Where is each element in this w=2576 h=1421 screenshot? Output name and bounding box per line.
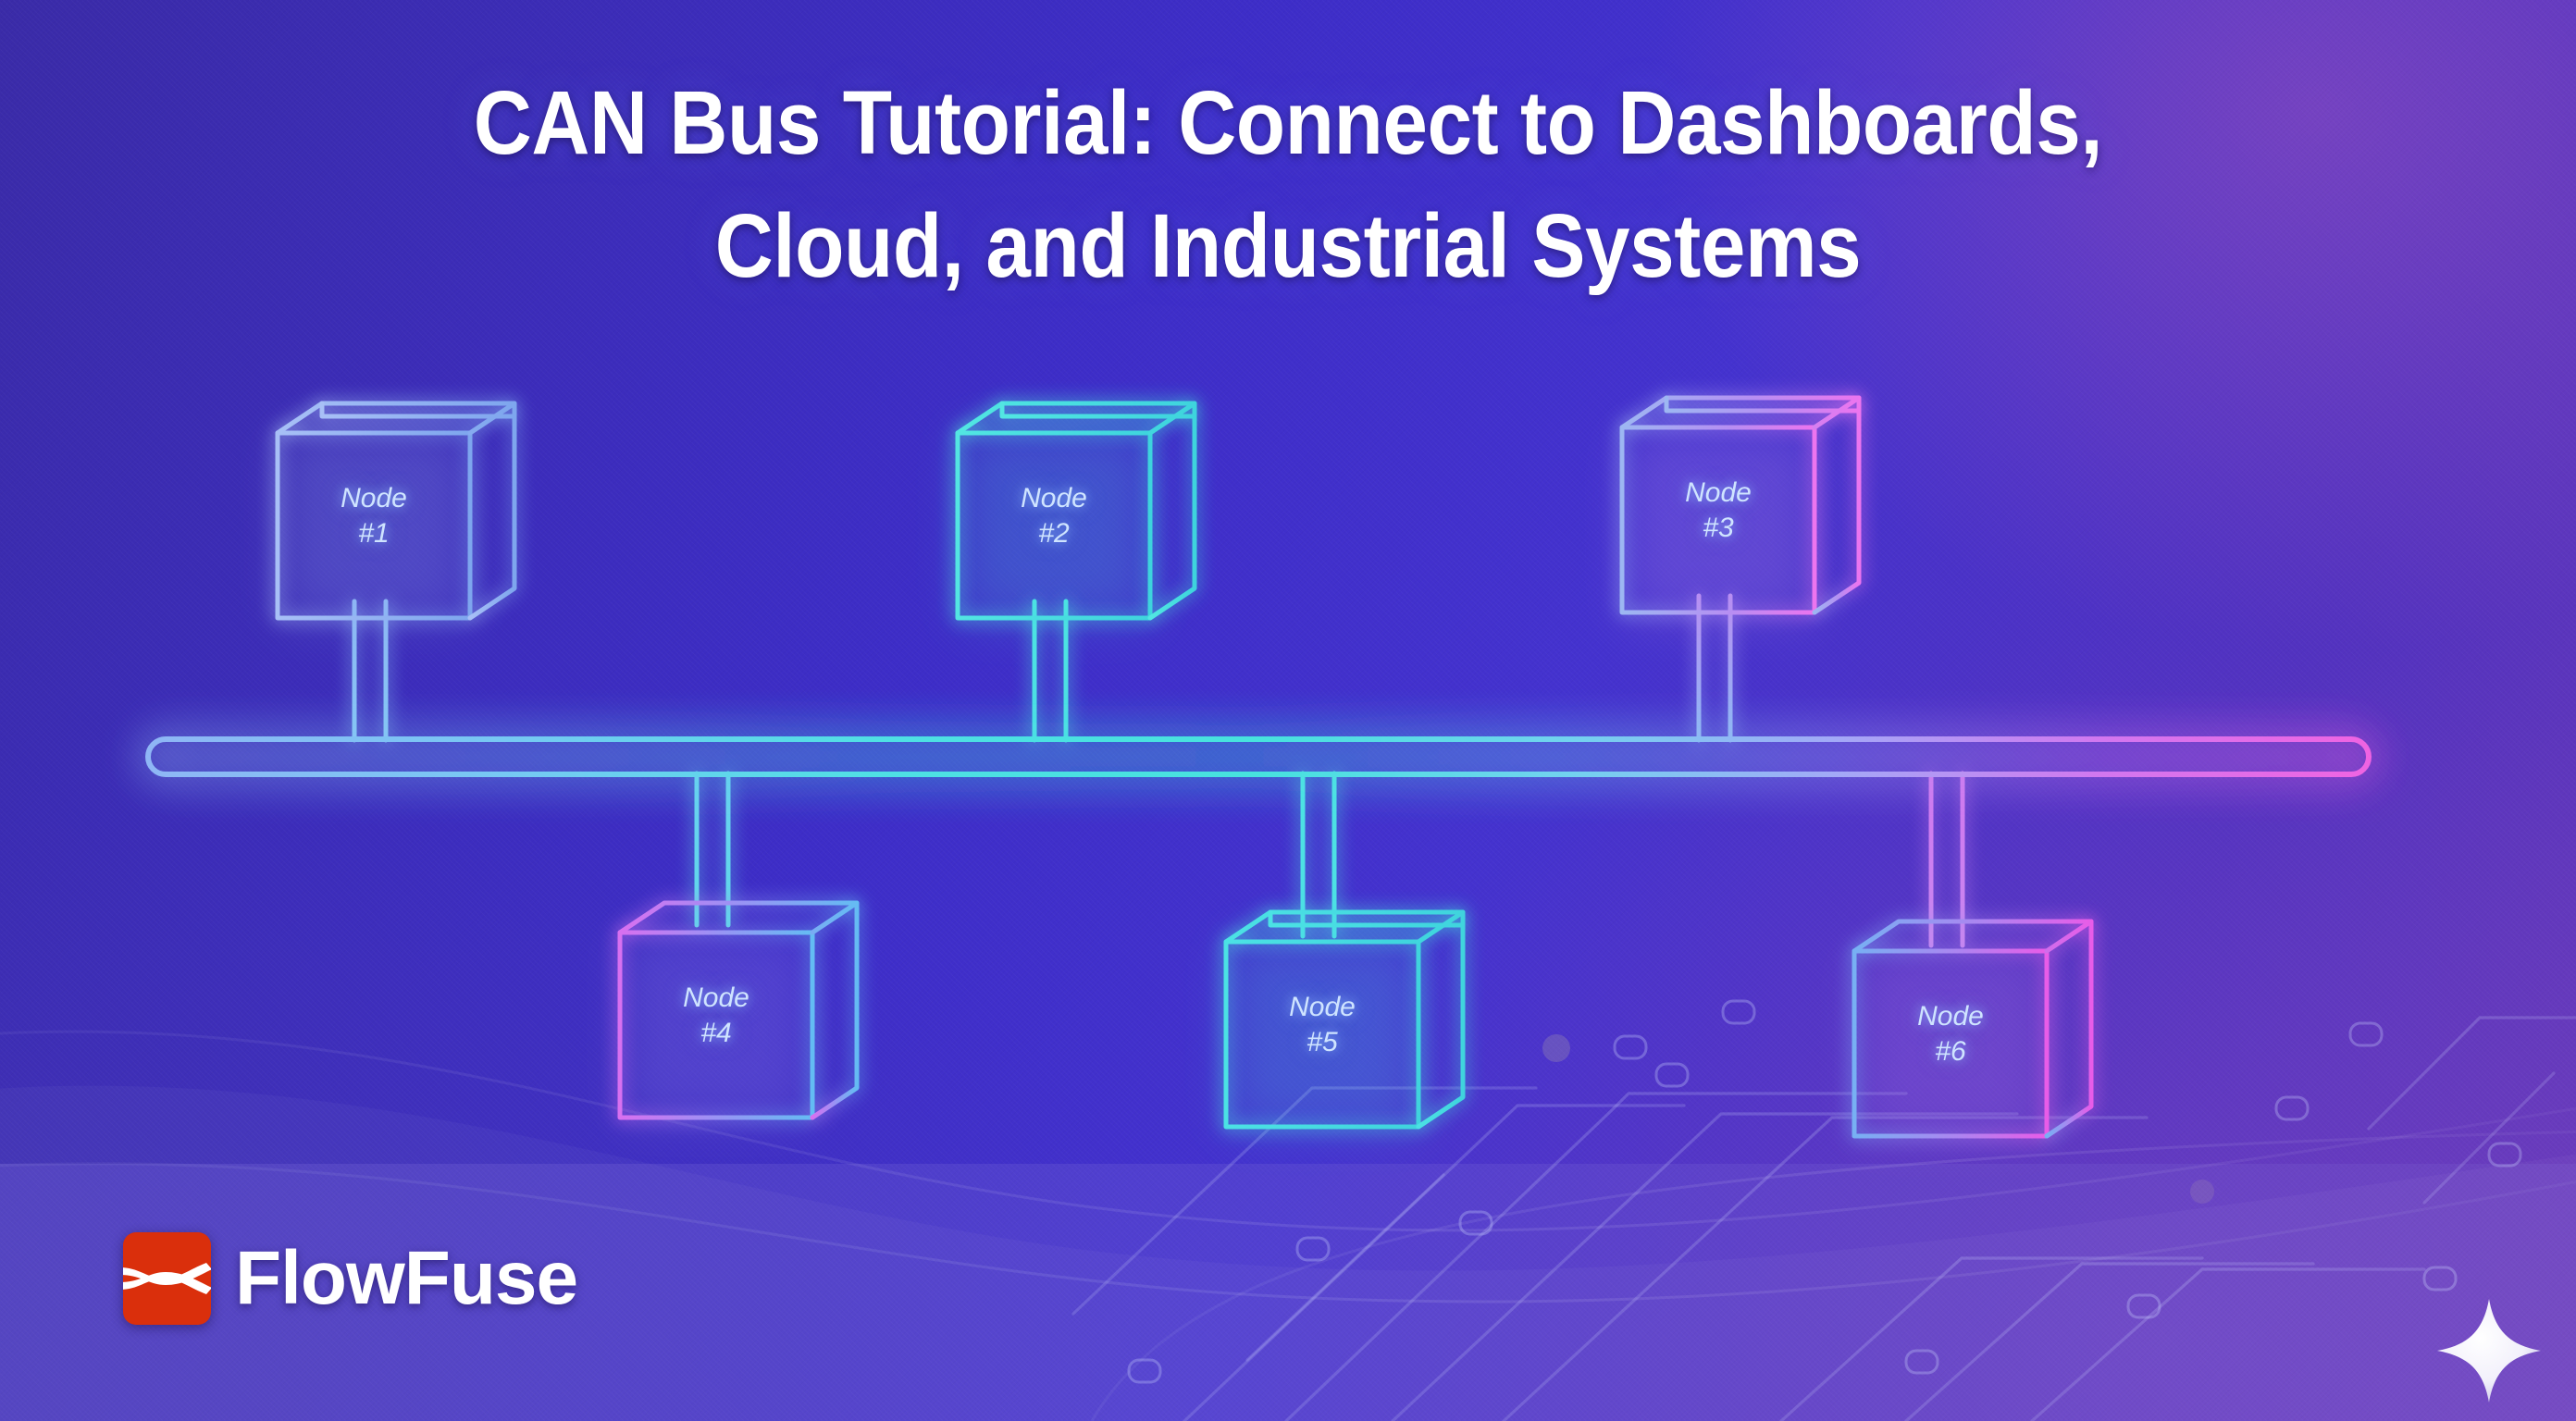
flowfuse-fuse-icon — [123, 1232, 211, 1325]
page-title: CAN Bus Tutorial: Connect to Dashboards,… — [0, 61, 2576, 307]
can-bus-backbone — [148, 739, 2369, 774]
fuse-glyph — [123, 1232, 211, 1325]
flowfuse-wordmark: FlowFuse — [235, 1241, 577, 1316]
flowfuse-logo[interactable]: FlowFuse — [123, 1232, 577, 1325]
title-line-1: CAN Bus Tutorial: Connect to Dashboards, — [129, 61, 2447, 184]
drop-line-node-1 — [354, 601, 386, 740]
drop-line-node-2 — [1034, 601, 1066, 740]
hero-banner: CAN Bus Tutorial: Connect to Dashboards,… — [0, 0, 2576, 1421]
node-drop-lines — [354, 596, 1963, 945]
title-line-2: Cloud, and Industrial Systems — [129, 184, 2447, 307]
node-face-glows — [282, 435, 2044, 1138]
